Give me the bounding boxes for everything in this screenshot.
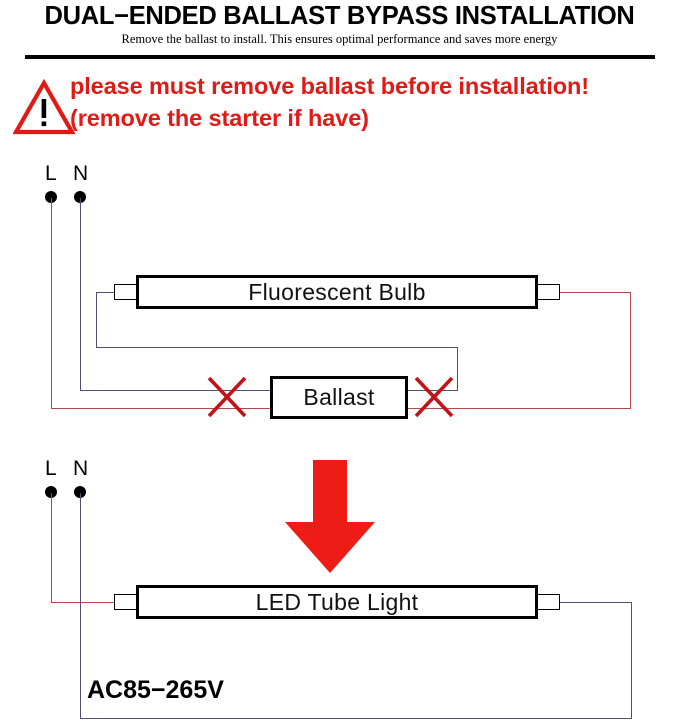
wire-neutral-upper-riser: [457, 347, 458, 391]
wire-neutral-lower-to-lamp-pin: [560, 602, 632, 603]
down-arrow-icon: [284, 460, 376, 574]
wire-live-lower-vertical: [51, 493, 52, 603]
wire-neutral-upper-vertical: [80, 198, 81, 391]
page-title: DUAL−ENDED BALLAST BYPASS INSTALLATION: [0, 2, 679, 31]
cross-mark-left-icon: [205, 375, 249, 419]
wire-live-upper-right-riser: [630, 292, 631, 409]
header-divider: [25, 55, 655, 59]
wire-neutral-upper-return: [96, 347, 458, 348]
wire-live-upper-to-bulb-pin: [560, 292, 631, 293]
warning-message: please must remove ballast before instal…: [70, 70, 676, 134]
voltage-label: AC85−265V: [84, 676, 227, 705]
led-tube-label: LED Tube Light: [256, 589, 419, 616]
warning-triangle-icon: [13, 79, 75, 135]
fluorescent-bulb-label: Fluorescent Bulb: [248, 279, 425, 306]
led-tube-light: LED Tube Light: [136, 585, 538, 619]
terminal-label-l-lower: L: [45, 458, 57, 479]
page-subtitle: Remove the ballast to install. This ensu…: [0, 32, 679, 47]
cross-mark-right-icon: [412, 375, 456, 419]
lamp-pin-right-upper: [536, 284, 560, 300]
terminal-label-l-upper: L: [45, 163, 57, 184]
wire-live-lower-to-lamp-pin: [51, 602, 120, 603]
warning-line-2: (remove the starter if have): [70, 102, 676, 134]
fluorescent-bulb: Fluorescent Bulb: [136, 275, 538, 309]
ballast-label: Ballast: [303, 384, 374, 411]
wire-neutral-lower-vertical: [80, 493, 81, 719]
warning-line-1: please must remove ballast before instal…: [70, 70, 676, 102]
lamp-pin-left-upper: [114, 284, 138, 300]
wire-neutral-lower-right-riser: [631, 602, 632, 719]
lamp-pin-left-lower: [114, 594, 138, 610]
wire-neutral-lower-bottom: [80, 718, 632, 719]
terminal-label-n-upper: N: [73, 163, 88, 184]
lamp-pin-right-lower: [536, 594, 560, 610]
wire-live-upper-vertical: [51, 198, 52, 409]
ballast-box: Ballast: [270, 376, 408, 419]
terminal-label-n-lower: N: [73, 458, 88, 479]
ballast-bypass-instruction-sheet: DUAL−ENDED BALLAST BYPASS INSTALLATION R…: [0, 0, 679, 724]
wire-neutral-upper-to-bulb-riser: [96, 292, 97, 348]
